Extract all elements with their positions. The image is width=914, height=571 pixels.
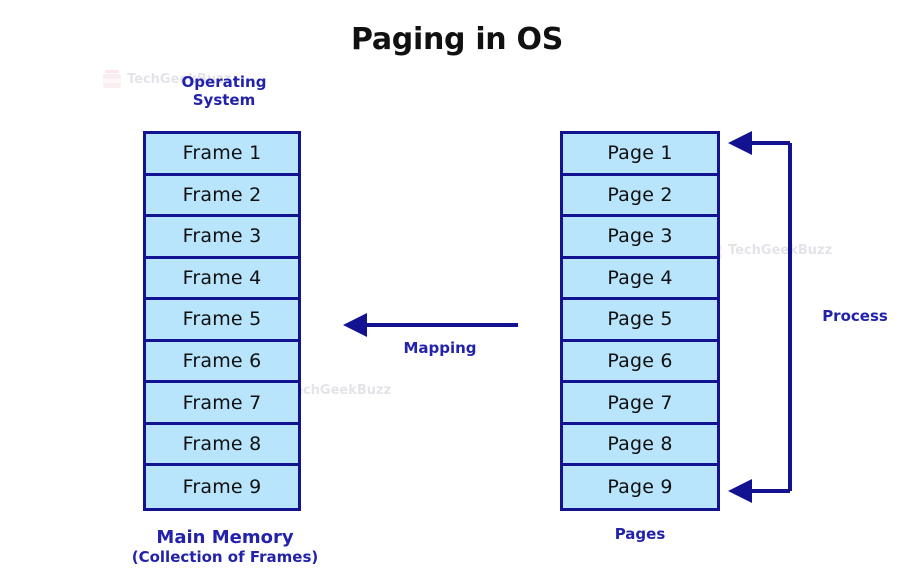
watermark-text: TechGeekBuzz — [728, 243, 832, 258]
process-label: Process — [800, 308, 910, 326]
page-cell: Page 6 — [563, 342, 717, 384]
pages-label: Pages — [545, 526, 735, 544]
frame-cell: Frame 4 — [146, 259, 298, 301]
frame-cell: Frame 8 — [146, 425, 298, 467]
frame-cell: Frame 3 — [146, 217, 298, 259]
page-cell: Page 9 — [563, 466, 717, 508]
arrow-layer — [0, 0, 914, 571]
frame-cell: Frame 7 — [146, 383, 298, 425]
frame-cell: Frame 1 — [146, 134, 298, 176]
main-memory-label: Main Memory — [100, 527, 350, 548]
mapping-label: Mapping — [355, 340, 525, 358]
frame-cell: Frame 6 — [146, 342, 298, 384]
process-bracket — [728, 131, 790, 503]
process-bracket-top-arrow — [728, 131, 752, 155]
page-cell: Page 4 — [563, 259, 717, 301]
watermark-text: TechGeekBuzz — [287, 383, 391, 398]
frame-cell: Frame 5 — [146, 300, 298, 342]
page-cell: Page 8 — [563, 425, 717, 467]
main-memory-sublabel: (Collection of Frames) — [100, 548, 350, 566]
frame-cell: Frame 9 — [146, 466, 298, 508]
pages-table: Page 1 Page 2 Page 3 Page 4 Page 5 Page … — [560, 131, 720, 511]
page-cell: Page 1 — [563, 134, 717, 176]
page-cell: Page 3 — [563, 217, 717, 259]
techgeekbuzz-logo-icon — [102, 69, 122, 89]
operating-system-label: Operating System — [150, 74, 298, 109]
diagram-canvas: Paging in OS TechGeekBuzz TechGeekBuzz T… — [0, 0, 914, 571]
watermark-center-right: TechGeekBuzz — [703, 240, 832, 260]
mapping-arrow — [343, 313, 518, 337]
frame-cell: Frame 2 — [146, 176, 298, 218]
page-cell: Page 2 — [563, 176, 717, 218]
page-cell: Page 5 — [563, 300, 717, 342]
page-title: Paging in OS — [0, 22, 914, 57]
process-bracket-bottom-arrow — [728, 479, 752, 503]
page-cell: Page 7 — [563, 383, 717, 425]
main-memory-frames-table: Frame 1 Frame 2 Frame 3 Frame 4 Frame 5 … — [143, 131, 301, 511]
